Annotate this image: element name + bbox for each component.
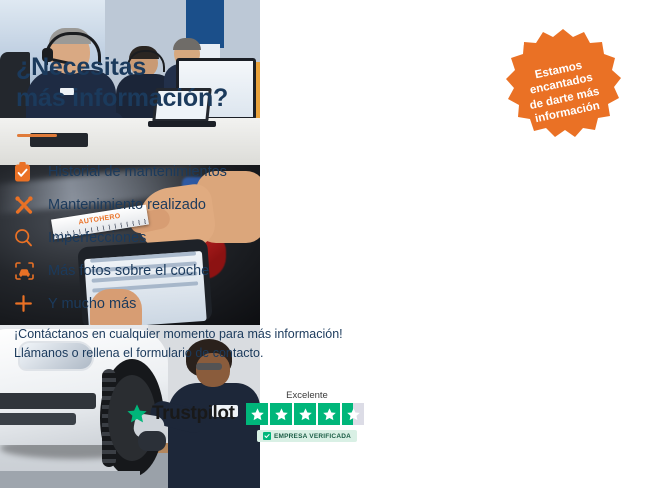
title-divider	[17, 134, 57, 137]
support-badge: Estamos encantados de darte más informac…	[503, 27, 623, 143]
safety-glasses-icon	[196, 363, 222, 370]
plus-icon	[14, 292, 48, 316]
tools-icon	[14, 193, 48, 217]
star-half	[342, 403, 364, 425]
laptop-base	[148, 121, 216, 127]
vehicle-lift-platform	[0, 471, 140, 488]
feature-label: Historial de mantenimientos	[48, 164, 227, 180]
feature-item-maintenance-history: Historial de mantenimientos	[14, 155, 344, 188]
star-filled	[270, 403, 292, 425]
star-filled	[318, 403, 340, 425]
agent-third-hair	[173, 38, 201, 50]
verified-label: EMPRESA VERIFICADA	[274, 433, 351, 440]
page-title-line-1: ¿Necesitas	[16, 52, 266, 83]
trustpilot-rating: Excelente	[246, 390, 368, 442]
feature-label: Más fotos sobre el coche	[48, 263, 209, 279]
headset-icon	[503, 27, 525, 47]
clipboard-check-icon	[14, 160, 48, 184]
feature-label: Mantenimiento realizado	[48, 197, 206, 213]
feature-item-more-photos: Más fotos sobre el coche	[14, 254, 344, 287]
information-request-banner: AUTOHERO	[0, 0, 650, 488]
feature-label: Imperfecciones	[48, 230, 146, 246]
star-filled	[294, 403, 316, 425]
page-title: ¿Necesitas más información?	[16, 52, 266, 113]
feature-list: Historial de mantenimientos Mantenimient…	[14, 155, 344, 320]
feature-label: Y mucho más	[48, 296, 136, 312]
star-filled	[246, 403, 268, 425]
feature-item-much-more: Y mucho más	[14, 287, 344, 320]
trustpilot-logo[interactable]: Trustpilot	[126, 403, 235, 425]
contact-line-1: ¡Contáctanos en cualquier momento para m…	[14, 325, 374, 344]
star-rating	[246, 403, 368, 425]
contact-text: ¡Contáctanos en cualquier momento para m…	[14, 325, 374, 364]
feature-item-imperfections: Imperfecciones	[14, 221, 344, 254]
verified-business-badge: EMPRESA VERIFICADA	[257, 430, 357, 442]
car-grille-upper	[0, 393, 96, 409]
page-title-line-2: más información?	[16, 83, 266, 114]
car-frame-icon	[14, 259, 48, 283]
feature-item-maintenance-done: Mantenimiento realizado	[14, 188, 344, 221]
verified-check-icon	[263, 432, 271, 440]
car-grille-lower	[0, 413, 76, 425]
contact-line-2: Llámanos o rellena el formulario de cont…	[14, 344, 374, 363]
rating-label: Excelente	[246, 390, 368, 401]
magnifier-icon	[14, 226, 48, 250]
trustpilot-widget[interactable]: Trustpilot Excelente	[126, 390, 376, 452]
trustpilot-name: Trustpilot	[152, 403, 235, 425]
trustpilot-star-icon	[126, 403, 148, 425]
